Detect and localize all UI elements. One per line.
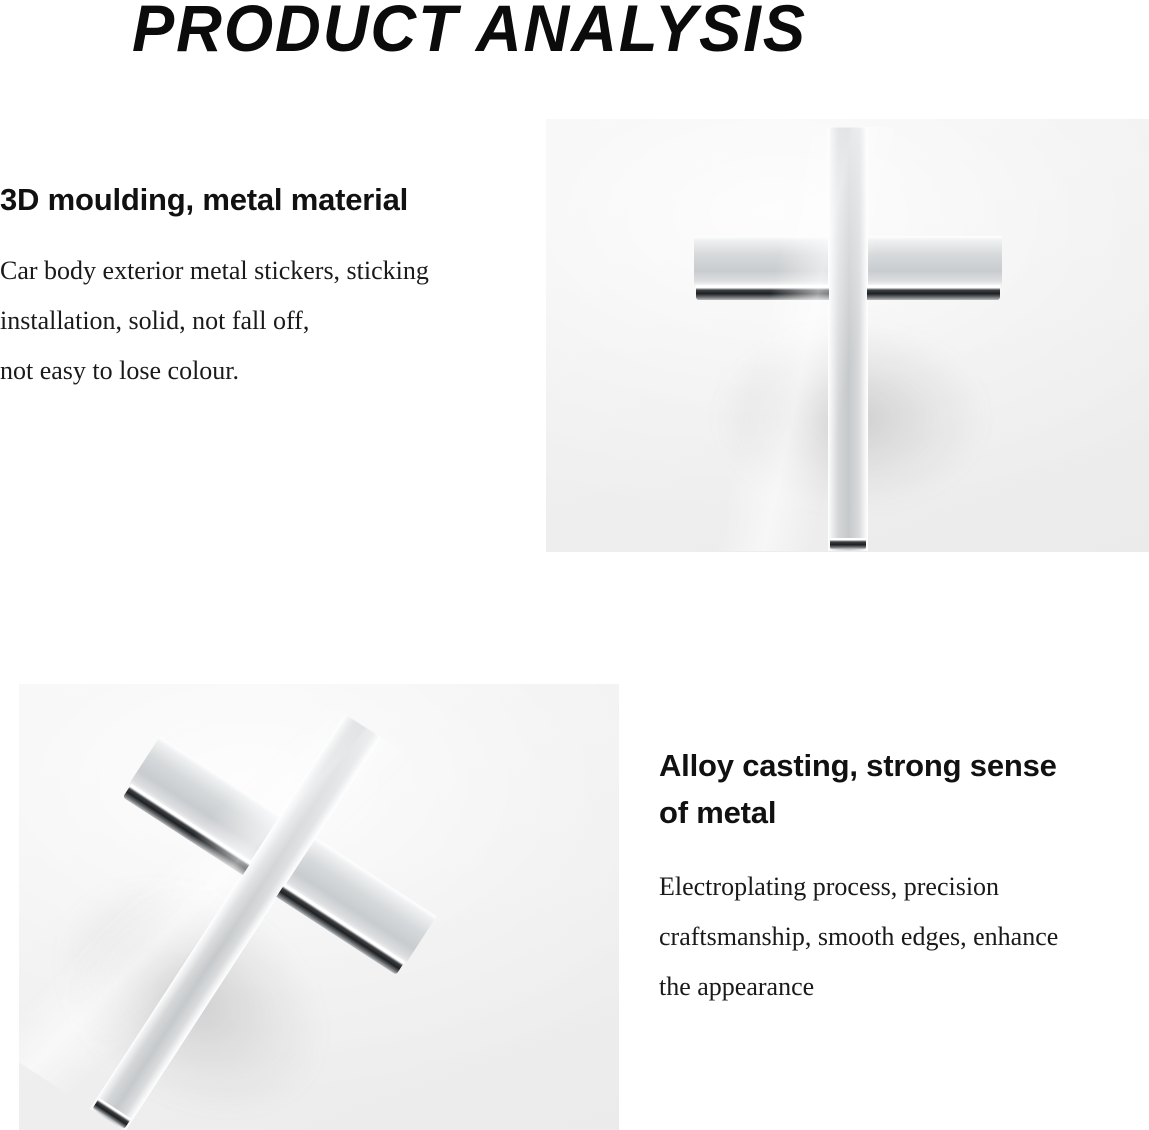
cross-bevel-edge-left bbox=[696, 285, 829, 299]
cross-bevel-edge-right bbox=[867, 285, 1000, 299]
feature-heading-3d-moulding: 3D moulding, metal material bbox=[0, 176, 540, 223]
body-line: not easy to lose colour. bbox=[0, 346, 540, 396]
body-line: the appearance bbox=[659, 962, 1139, 1012]
feature-block-alloy-casting: Alloy casting, strong sense of metal Ele… bbox=[659, 742, 1139, 1012]
page-title: PRODUCT ANALYSIS bbox=[132, 0, 977, 63]
feature-heading-alloy-casting: Alloy casting, strong sense of metal bbox=[659, 742, 1139, 836]
feature-block-3d-moulding: 3D moulding, metal material Car body ext… bbox=[0, 176, 540, 396]
chrome-cross-emblem-angled-icon bbox=[19, 684, 502, 1130]
body-line: installation, solid, not fall off, bbox=[0, 296, 540, 346]
product-image-panel-angled-cross bbox=[19, 684, 619, 1130]
heading-line: Alloy casting, strong sense bbox=[659, 742, 1139, 789]
body-line: craftsmanship, smooth edges, enhance bbox=[659, 912, 1139, 962]
heading-line: of metal bbox=[659, 789, 1139, 836]
product-analysis-page: PRODUCT ANALYSIS 3D moulding, metal mate… bbox=[0, 0, 1149, 1130]
product-image-panel-upright-cross bbox=[546, 119, 1149, 552]
feature-body-alloy-casting: Electroplating process, precision crafts… bbox=[659, 862, 1139, 1012]
cross-bevel-edge-bottom bbox=[830, 538, 866, 549]
cross-vertical-arm bbox=[828, 127, 867, 551]
feature-body-3d-moulding: Car body exterior metal stickers, sticki… bbox=[0, 246, 540, 396]
body-line: Electroplating process, precision bbox=[659, 862, 1139, 912]
chrome-cross-emblem-front-icon bbox=[694, 127, 1002, 551]
body-line: Car body exterior metal stickers, sticki… bbox=[0, 246, 540, 296]
